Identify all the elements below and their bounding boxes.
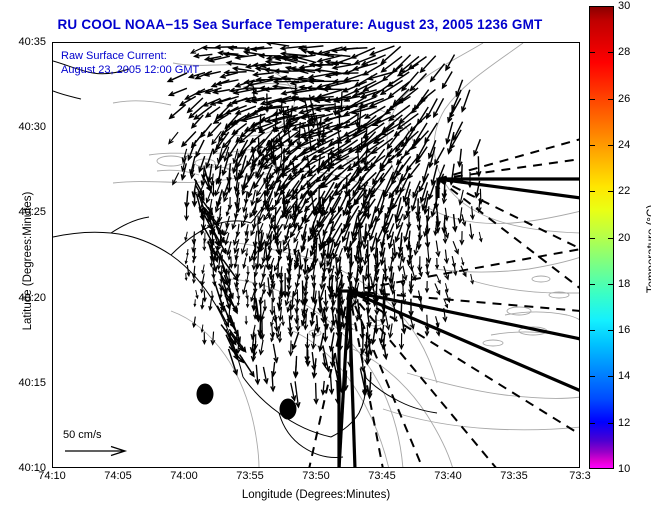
x-tick-label: 74:00 (170, 470, 198, 482)
x-tick-label: 73:35 (500, 470, 528, 482)
colorbar-tick-label: 26 (618, 93, 630, 105)
x-axis-label: Longitude (Degrees:Minutes) (52, 489, 580, 501)
colorbar-tick-mark (608, 191, 614, 192)
colorbar-tick-label: 24 (618, 139, 630, 151)
figure-title: RU COOL NOAA−15 Sea Surface Temperature:… (0, 17, 600, 32)
scale-bar-label: 50 cm/s (63, 429, 153, 441)
colorbar-tick-mark (589, 330, 595, 331)
colorbar-tick-mark (589, 145, 595, 146)
radar-station-marker (197, 384, 214, 405)
x-tick-label: 73:50 (302, 470, 330, 482)
colorbar-tick-label: 16 (618, 324, 630, 336)
raw-surface-current-annotation: Raw Surface Current: August 23, 2005 12:… (61, 49, 199, 77)
colorbar-tick-mark (589, 52, 595, 53)
x-tick-label: 73:40 (434, 470, 462, 482)
scale-bar: 50 cm/s (63, 429, 153, 463)
colorbar-tick-mark (589, 191, 595, 192)
colorbar-tick-label: 20 (618, 232, 630, 244)
colorbar-tick-mark (589, 284, 595, 285)
colorbar-tick-mark (608, 376, 614, 377)
colorbar-tick-mark (608, 99, 614, 100)
colorbar-tick-mark (608, 145, 614, 146)
annotation-line-2: August 23, 2005 12:00 GMT (61, 63, 199, 77)
annotation-line-1: Raw Surface Current: (61, 49, 199, 63)
colorbar-tick-mark (608, 52, 614, 53)
colorbar-tick-label: 12 (618, 417, 630, 429)
colorbar-tick-label: 10 (618, 463, 630, 475)
colorbar-tick-mark (608, 238, 614, 239)
colorbar-tick-mark (589, 99, 595, 100)
x-tick-label: 74:05 (104, 470, 132, 482)
plot-inner (53, 43, 579, 467)
y-tick-label: 40:30 (0, 121, 46, 133)
colorbar-tick-label: 22 (618, 185, 630, 197)
radar-station-marker (280, 399, 297, 420)
colorbar-tick-mark (608, 284, 614, 285)
plot-area[interactable]: Raw Surface Current: August 23, 2005 12:… (52, 42, 580, 468)
colorbar-tick-mark (589, 423, 595, 424)
y-tick-label: 40:10 (0, 462, 46, 474)
colorbar-tick-label: 18 (618, 278, 630, 290)
colorbar-tick-label: 30 (618, 0, 630, 12)
y-axis-label: Latitude (Degrees:Minutes) (22, 141, 34, 381)
colorbar-tick-label: 14 (618, 370, 630, 382)
colorbar-tick-mark (589, 238, 595, 239)
colorbar-title: Temperature (°C) (646, 149, 651, 349)
colorbar-tick-mark (608, 330, 614, 331)
x-tick-label: 73:45 (368, 470, 396, 482)
y-tick-label: 40:35 (0, 36, 46, 48)
scale-bar-arrow-icon (63, 444, 133, 458)
colorbar-tick-label: 28 (618, 46, 630, 58)
colorbar-tick-mark (608, 423, 614, 424)
x-tick-label: 73:3 (569, 470, 590, 482)
map-canvas (53, 43, 579, 467)
sst-map-figure: RU COOL NOAA−15 Sea Surface Temperature:… (0, 0, 651, 518)
x-tick-label: 73:55 (236, 470, 264, 482)
colorbar-tick-mark (589, 376, 595, 377)
